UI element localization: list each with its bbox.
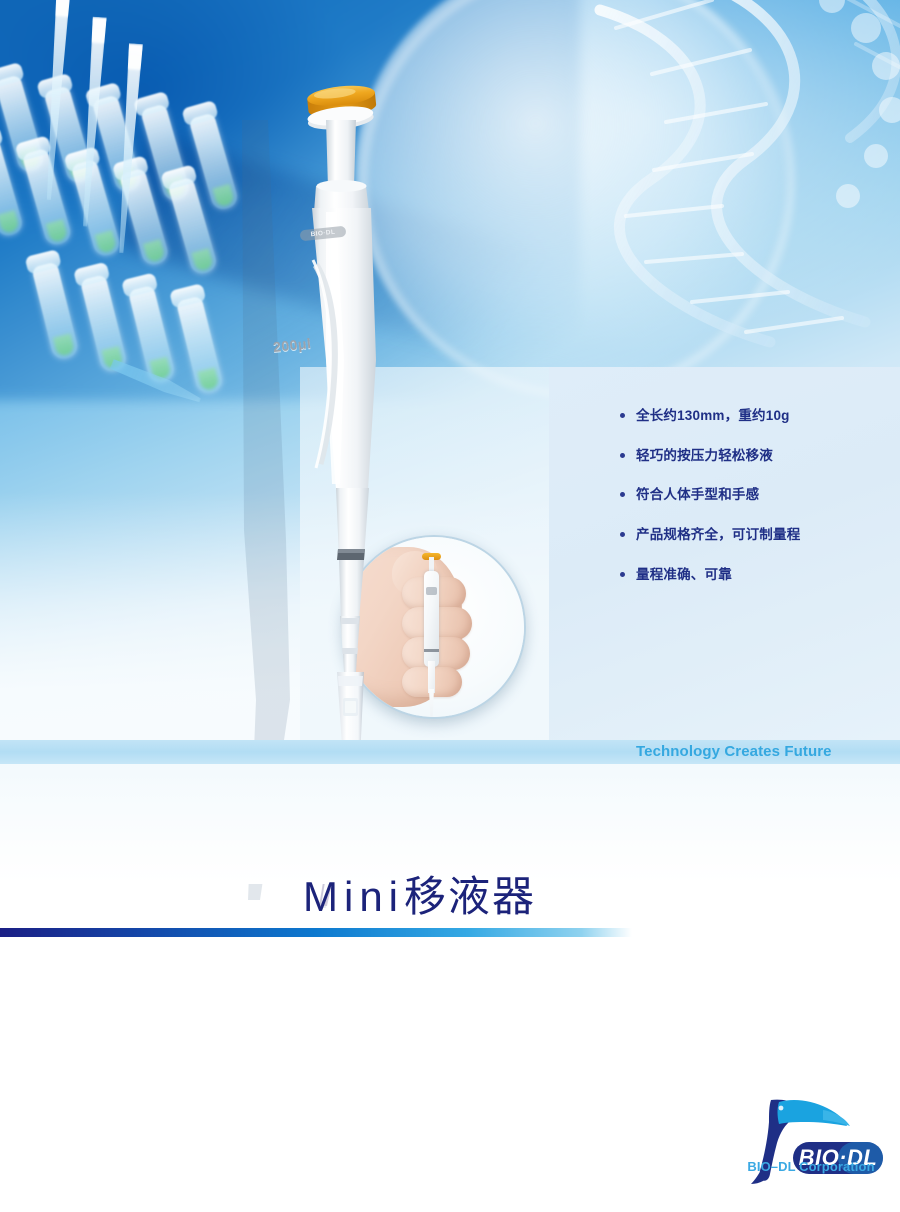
dna-helix-background <box>580 0 900 400</box>
spec-item: 产品规格齐全，可订制量程 <box>620 526 888 544</box>
spec-text: 符合人体手型和手感 <box>636 486 759 504</box>
spec-text: 产品规格齐全，可订制量程 <box>636 526 800 544</box>
spec-item: 量程准确、可靠 <box>620 566 888 584</box>
bullet-icon <box>620 492 625 497</box>
title-en: Mini <box>303 873 404 920</box>
title-cn: 移液器 <box>404 873 536 920</box>
spec-text: 轻巧的按压力轻松移液 <box>636 447 773 465</box>
company-name: BIO–DL Corporation <box>735 1159 887 1174</box>
spec-text: 量程准确、可靠 <box>636 566 732 584</box>
biodl-logo: BIO·DL <box>735 1094 885 1192</box>
spec-item: 轻巧的按压力轻松移液 <box>620 447 888 465</box>
page-title: Mini移液器 <box>303 876 536 918</box>
bullet-icon <box>620 413 625 418</box>
spec-text: 全长约130mm，重约10g <box>636 407 790 425</box>
specification-list: 全长约130mm，重约10g 轻巧的按压力轻松移液 符合人体手型和手感 产品规格… <box>620 407 888 606</box>
title-underline-rule <box>0 928 632 937</box>
spec-item: 全长约130mm，重约10g <box>620 407 888 425</box>
spec-item: 符合人体手型和手感 <box>620 486 888 504</box>
bullet-icon <box>620 453 625 458</box>
bullet-icon <box>620 532 625 537</box>
specifications-panel: 全长约130mm，重约10g 轻巧的按压力轻松移液 符合人体手型和手感 产品规格… <box>549 367 900 743</box>
brochure-page: 全长约130mm，重约10g 轻巧的按压力轻松移液 符合人体手型和手感 产品规格… <box>0 0 900 1212</box>
bullet-icon <box>620 572 625 577</box>
tagline: Technology Creates Future <box>636 741 832 763</box>
band-lower-gradient <box>0 764 900 884</box>
